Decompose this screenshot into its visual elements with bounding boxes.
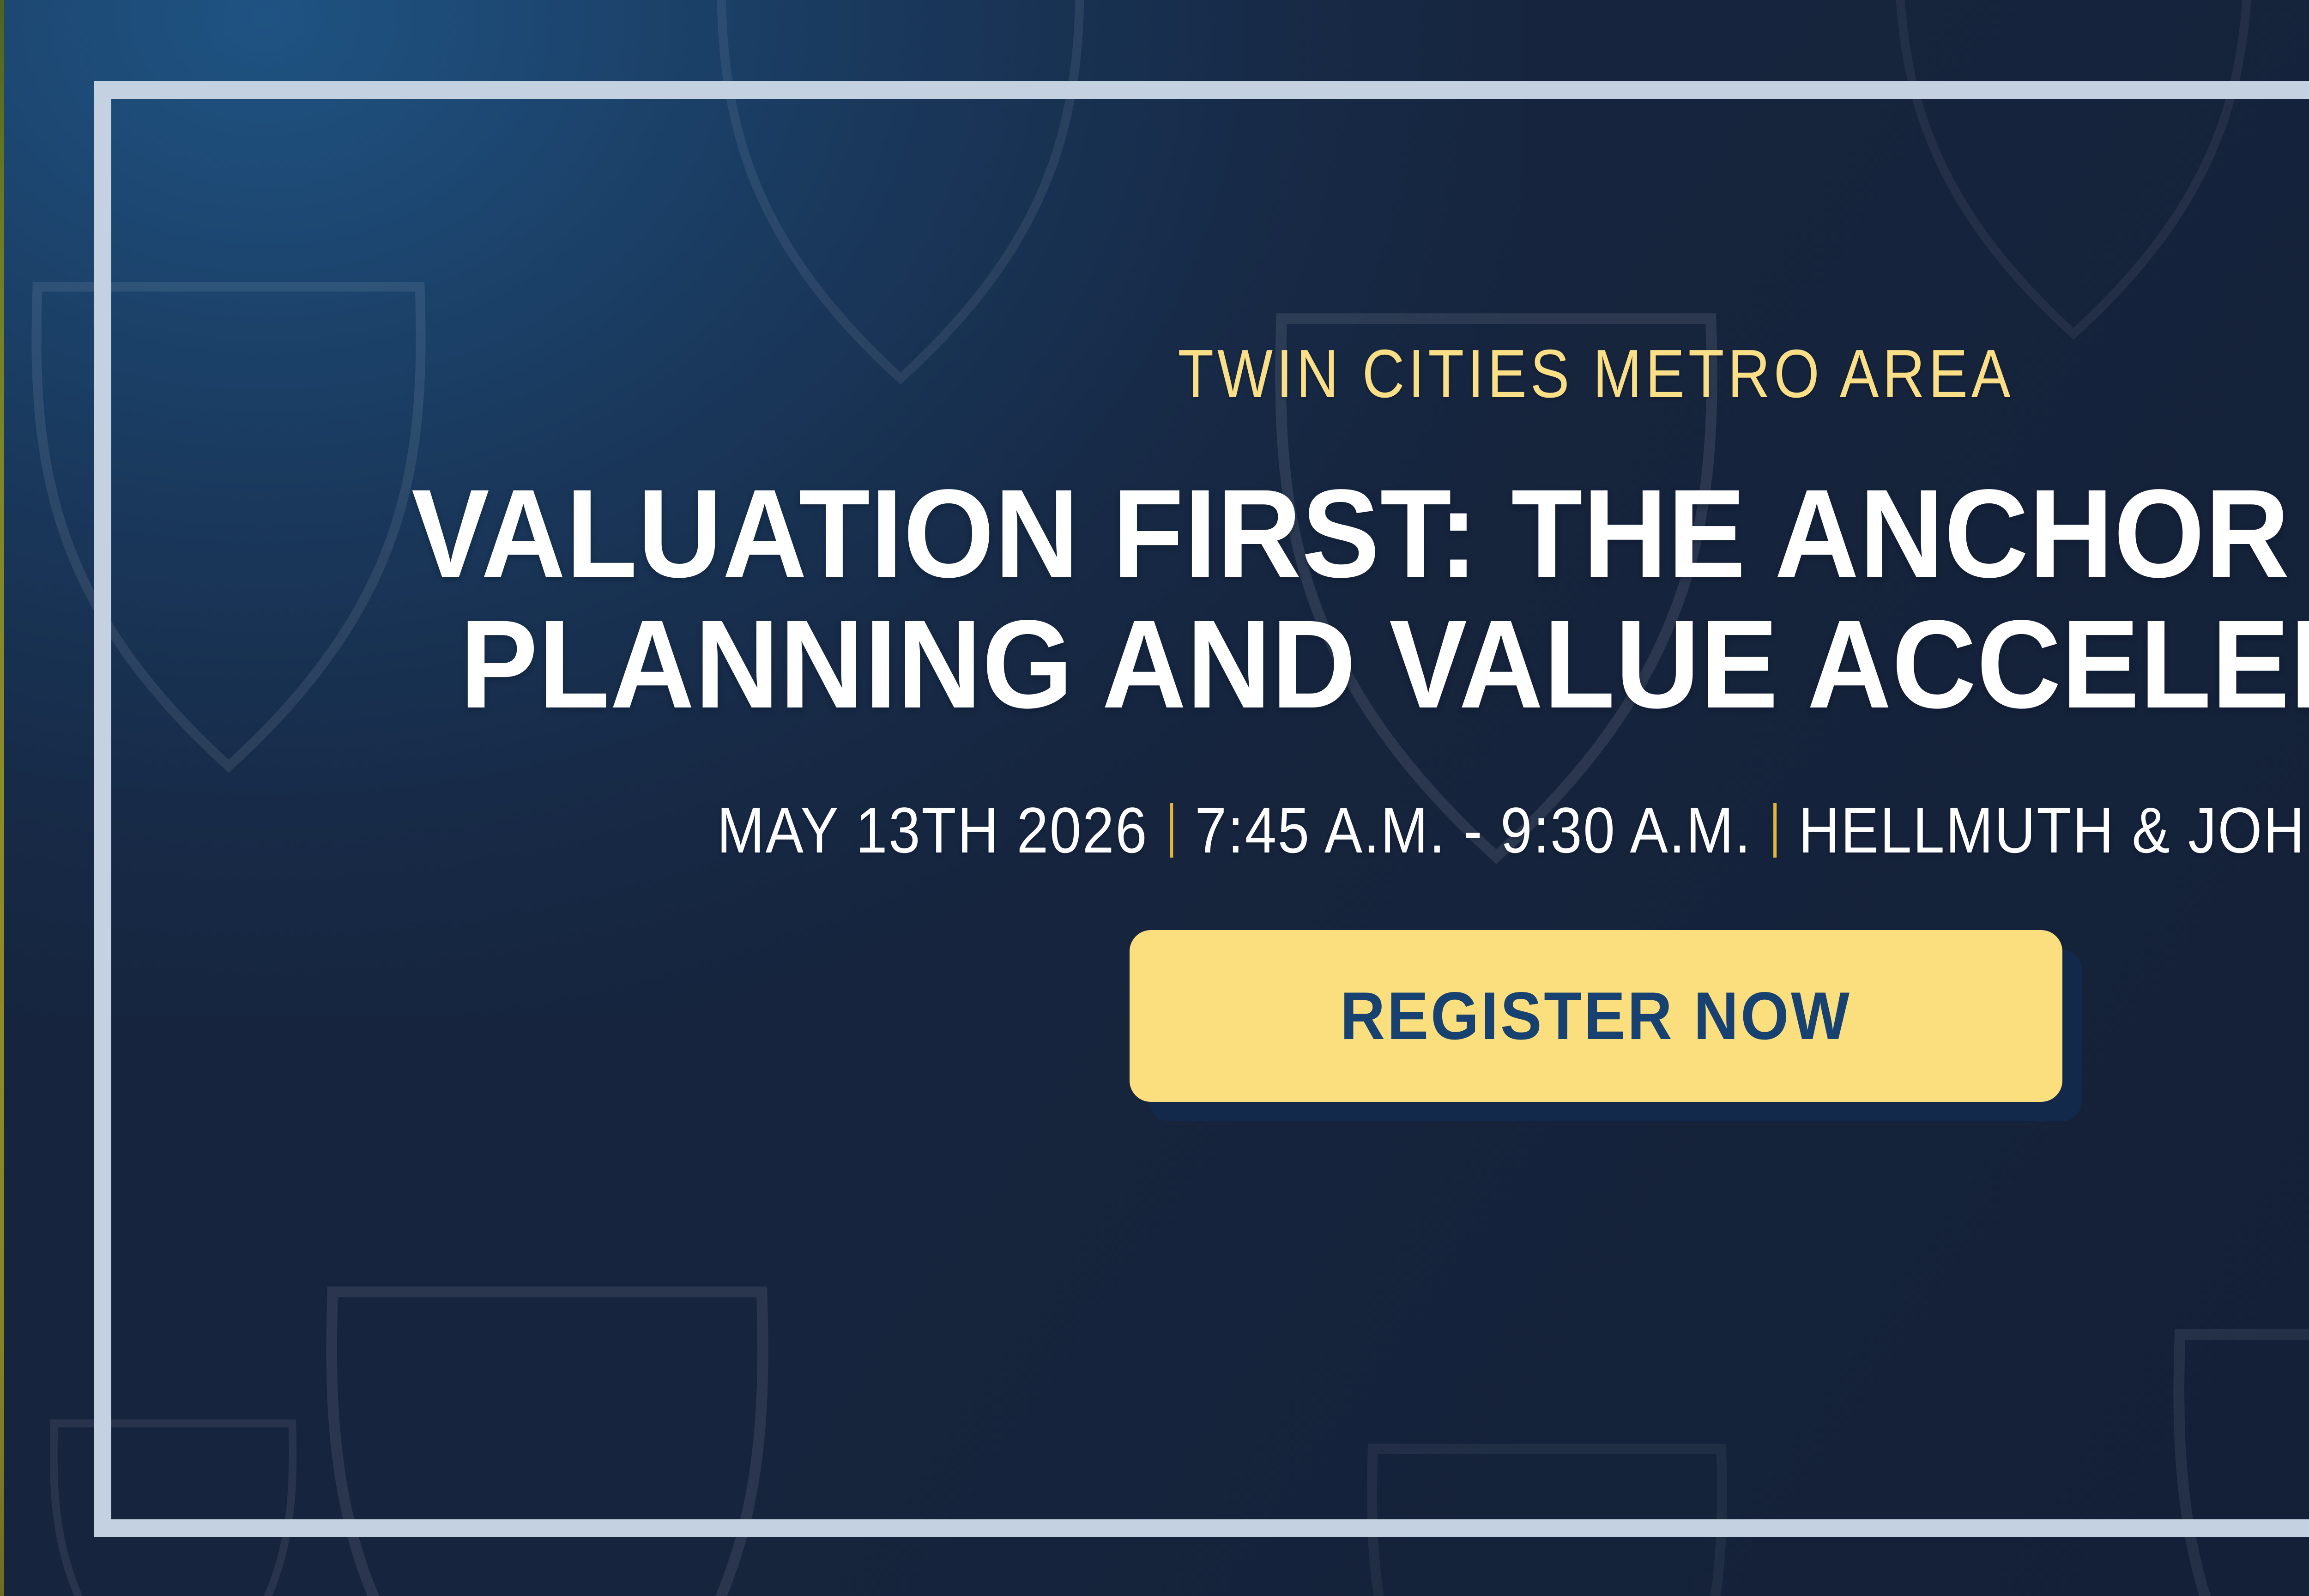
- event-details: MAY 13TH 2026 7:45 A.M. - 9:30 A.M. HELL…: [717, 798, 2309, 863]
- detail-separator-icon: [1774, 803, 1777, 858]
- register-now-button-label: REGISTER NOW: [1340, 982, 1851, 1050]
- region-eyebrow: TWIN CITIES METRO AREA: [1178, 340, 2014, 408]
- event-venue: HELLMUTH & JOHNSON: [1799, 798, 2309, 863]
- event-date: MAY 13TH 2026: [717, 798, 1148, 863]
- event-banner: TWIN CITIES METRO AREA VALUATION FIRST: …: [0, 0, 2309, 1596]
- detail-separator-icon: [1170, 803, 1173, 858]
- left-edge-strip: [0, 0, 4, 1596]
- register-now-button[interactable]: REGISTER NOW: [1130, 930, 2062, 1102]
- register-cta-group: REGISTER NOW: [1130, 930, 2062, 1102]
- event-time: 7:45 A.M. - 9:30 A.M.: [1195, 798, 1752, 863]
- page-title-line-2: PLANNING AND VALUE ACCELERATION: [411, 599, 2309, 730]
- page-title-line-1: VALUATION FIRST: THE ANCHOR OF EXIT: [411, 468, 2309, 599]
- page-title: VALUATION FIRST: THE ANCHOR OF EXIT PLAN…: [411, 468, 2309, 730]
